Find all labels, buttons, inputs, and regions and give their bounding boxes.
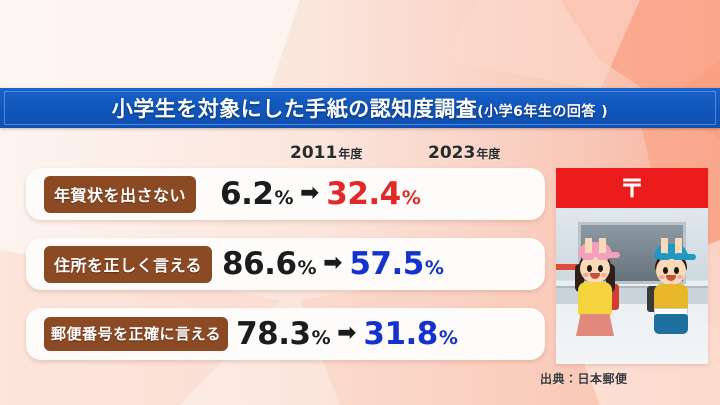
value-before-number: 86.6	[222, 246, 297, 282]
boy-cheek-left	[659, 275, 665, 279]
girl-mouth	[590, 273, 600, 279]
value-before-number: 78.3	[236, 316, 311, 352]
value-after: 57.5%	[349, 246, 443, 282]
value-before-percent: %	[298, 257, 317, 279]
banner-subtitle: (小学6年生の回答 )	[477, 101, 608, 121]
column-header-2023: 2023年度	[428, 143, 500, 163]
boy-leg-left	[661, 238, 668, 254]
boy-cheek-right	[677, 275, 683, 279]
boy-shoe-right	[673, 253, 685, 260]
year-2011-value: 2011	[290, 143, 337, 163]
banner-text: 小学生を対象にした手紙の認知度調査(小学6年生の回答 )	[112, 93, 608, 123]
value-before-percent: %	[312, 327, 331, 349]
value-after-number: 57.5	[349, 246, 424, 282]
boy-head	[656, 256, 686, 285]
girl-cheek-right	[601, 273, 607, 277]
boy-eye-left	[663, 267, 668, 274]
value-after-number: 31.8	[363, 316, 438, 352]
value-before: 86.6%	[222, 246, 316, 282]
postal-mark-icon: 〒	[619, 176, 644, 201]
boy-shoe-left	[658, 253, 670, 260]
girl-body	[578, 282, 612, 316]
value-before-percent: %	[274, 187, 293, 209]
table-row: 郵便番号を正確に言える 78.3% ➡ 31.8%	[26, 308, 545, 360]
table-row: 住所を正しく言える 86.6% ➡ 57.5%	[26, 238, 545, 290]
arrow-icon: ➡	[337, 322, 356, 345]
boy-shorts	[654, 314, 688, 334]
table-row: 年賀状を出さない 6.2% ➡ 32.4%	[26, 168, 545, 220]
post-office-sign: 〒	[556, 168, 708, 208]
year-headers: 2011年度 2023年度	[0, 143, 545, 167]
boy-eye-right	[674, 267, 679, 274]
girl-leg-left	[585, 238, 592, 254]
year-2023-suffix: 年度	[476, 145, 500, 162]
row-values: 86.6% ➡ 57.5%	[222, 246, 443, 282]
year-2011-suffix: 年度	[338, 145, 362, 162]
girl-cheek-left	[583, 273, 589, 277]
data-rows: 年賀状を出さない 6.2% ➡ 32.4% 住所を正しく言える 86.6% ➡ …	[26, 168, 545, 378]
column-header-2011: 2011年度	[290, 143, 362, 163]
value-after: 31.8%	[363, 316, 457, 352]
row-values: 6.2% ➡ 32.4%	[220, 176, 420, 212]
value-after-percent: %	[425, 257, 444, 279]
source-credit: 出典：日本郵便	[540, 370, 715, 387]
value-after-percent: %	[439, 327, 458, 349]
arrow-icon: ➡	[323, 252, 342, 275]
illustration-panel: 〒	[556, 168, 708, 364]
girl-eye-right	[598, 265, 603, 272]
child-boy-illustration	[644, 238, 698, 360]
row-label: 郵便番号を正確に言える	[44, 317, 228, 351]
value-after: 32.4%	[326, 176, 420, 212]
boy-mouth	[666, 275, 676, 281]
arrow-icon: ➡	[300, 182, 319, 205]
boy-leg-right	[675, 238, 682, 254]
girl-leg-right	[599, 238, 606, 254]
row-values: 78.3% ➡ 31.8%	[236, 316, 457, 352]
child-girl-illustration	[568, 238, 622, 360]
value-before: 6.2%	[220, 176, 293, 212]
value-after-number: 32.4	[326, 176, 401, 212]
value-before: 78.3%	[236, 316, 330, 352]
value-before-number: 6.2	[220, 176, 273, 212]
girl-skirt	[576, 314, 614, 336]
row-label: 年賀状を出さない	[44, 176, 196, 213]
girl-eye-left	[587, 265, 592, 272]
title-banner: 小学生を対象にした手紙の認知度調査(小学6年生の回答 )	[0, 88, 720, 128]
value-after-percent: %	[402, 187, 421, 209]
year-2023-value: 2023	[428, 143, 475, 163]
banner-title: 小学生を対象にした手紙の認知度調査	[112, 93, 478, 123]
girl-shoe-right	[597, 253, 609, 260]
row-label: 住所を正しく言える	[44, 246, 212, 283]
girl-shoe-left	[582, 253, 594, 260]
